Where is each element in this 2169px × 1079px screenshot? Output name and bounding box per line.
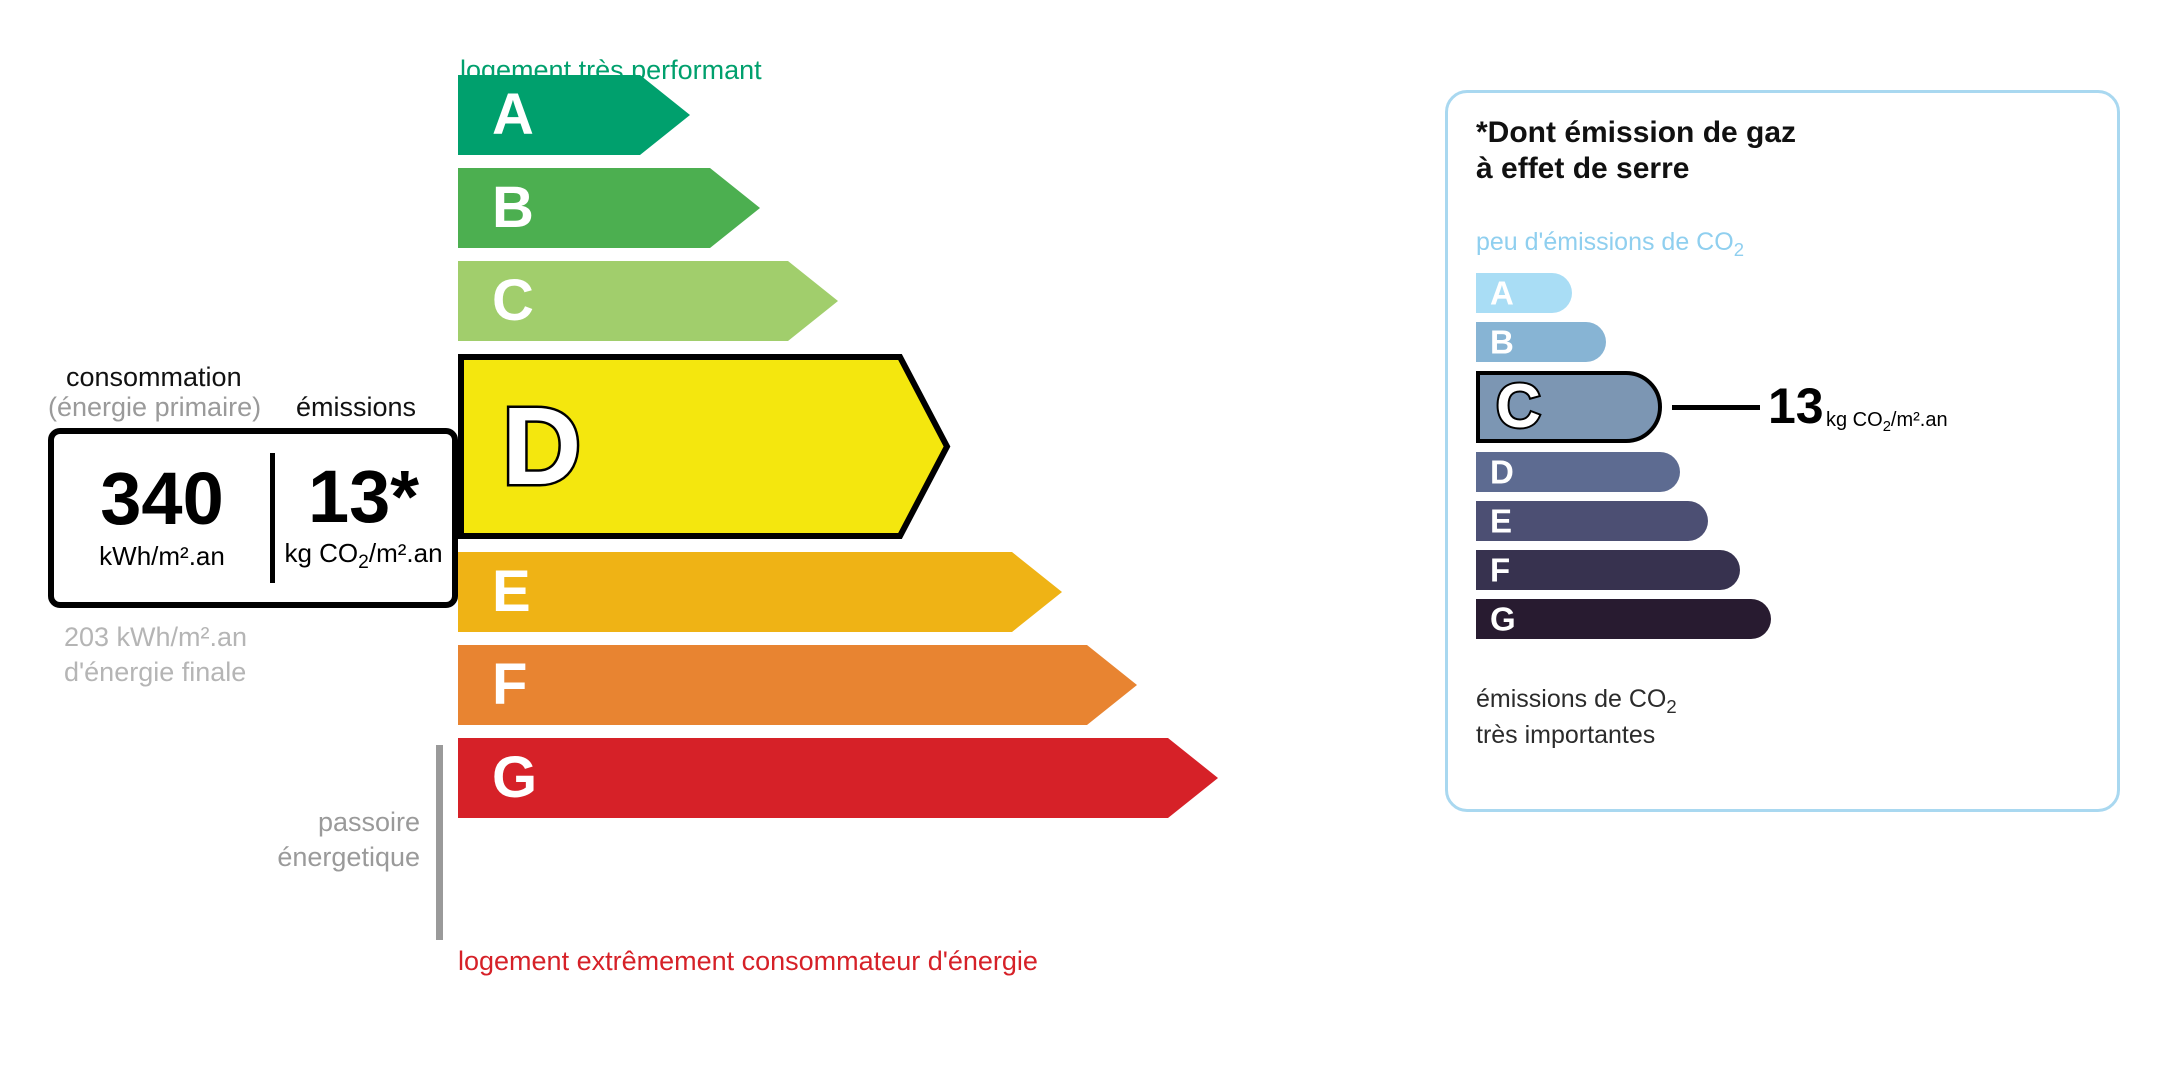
ladder-bar-letter-g: G xyxy=(492,749,537,807)
ges-bar-a[interactable]: A xyxy=(1476,273,1572,313)
ladder-bar-letter-d: D xyxy=(502,392,581,502)
dpe-diagram: logement très performant ABCDEFG consomm… xyxy=(0,0,2169,1079)
ladder-bar-g[interactable]: G xyxy=(458,738,1218,818)
consumption-value-cell: 340 kWh/m².an xyxy=(54,464,270,571)
ges-bar-e[interactable]: E xyxy=(1476,501,1708,541)
ges-bar-f[interactable]: F xyxy=(1476,550,1740,590)
ges-bottom-line2: très importantes xyxy=(1476,719,1677,751)
ladder-bar-letter-f: F xyxy=(492,656,527,714)
ges-callout-line xyxy=(1672,405,1760,410)
ges-bar-d[interactable]: D xyxy=(1476,452,1680,492)
ges-title-line1: *Dont émission de gaz xyxy=(1476,115,1796,151)
consumption-value: 340 xyxy=(100,464,223,534)
ges-bar-shape-f: F xyxy=(1476,550,1740,590)
value-box: 340 kWh/m².an 13* kg CO2/m².an xyxy=(48,428,458,608)
final-energy-line1: 203 kWh/m².an xyxy=(64,620,247,655)
ladder-bar-f[interactable]: F xyxy=(458,645,1137,725)
ladder-bar-letter-e: E xyxy=(492,563,531,621)
energy-ladder: logement très performant ABCDEFG consomm… xyxy=(0,0,1400,1079)
ges-bar-letter-d: D xyxy=(1490,456,1514,489)
ges-bar-letter-b: B xyxy=(1490,326,1514,359)
passoire-line2: énergetique xyxy=(270,840,420,875)
ges-bar-g[interactable]: G xyxy=(1476,599,1771,639)
ges-bar-shape-a: A xyxy=(1476,273,1572,313)
ges-title-line2: à effet de serre xyxy=(1476,151,1796,187)
ges-bar-shape-d: D xyxy=(1476,452,1680,492)
ges-bar-b[interactable]: B xyxy=(1476,322,1606,362)
ladder-bar-letter-c: C xyxy=(492,272,534,330)
consumption-unit: kWh/m².an xyxy=(99,541,225,572)
ladder-bar-shape-e xyxy=(458,552,1062,632)
ladder-bar-c[interactable]: C xyxy=(458,261,838,341)
ges-bar-letter-a: A xyxy=(1490,277,1514,310)
ladder-bar-letter-a: A xyxy=(492,86,534,144)
emission-unit: kg CO2/m².an xyxy=(284,538,442,574)
final-energy-note: 203 kWh/m².an d'énergie finale xyxy=(64,620,247,689)
ladder-bar-letter-b: B xyxy=(492,179,534,237)
ges-title: *Dont émission de gaz à effet de serre xyxy=(1476,115,1796,187)
emission-value: 13* xyxy=(308,462,419,532)
ges-callout-value: 13 xyxy=(1768,381,1824,431)
ladder-bottom-note: logement extrêmement consommateur d'éner… xyxy=(458,946,1038,977)
consumption-sublabel: (énergie primaire) xyxy=(48,392,261,423)
ladder-bar-b[interactable]: B xyxy=(458,168,760,248)
ges-bar-c[interactable]: C xyxy=(1476,371,1662,443)
ges-bottom-note: émissions de CO2 très importantes xyxy=(1476,683,1677,751)
ladder-bar-e[interactable]: E xyxy=(458,552,1062,632)
passoire-label: passoire énergetique xyxy=(270,805,420,874)
ges-bar-letter-c: C xyxy=(1496,376,1541,438)
final-energy-line2: d'énergie finale xyxy=(64,655,247,690)
ges-bottom-line1: émissions de CO2 xyxy=(1476,683,1677,719)
consumption-label: consommation xyxy=(66,362,242,393)
ladder-bar-a[interactable]: A xyxy=(458,75,690,155)
ges-bar-letter-f: F xyxy=(1490,554,1510,587)
ladder-bar-shape-f xyxy=(458,645,1137,725)
ges-bar-shape-b: B xyxy=(1476,322,1606,362)
ges-bar-letter-e: E xyxy=(1490,505,1512,538)
ges-bar-shape-g: G xyxy=(1476,599,1771,639)
ladder-bar-shape-g xyxy=(458,738,1218,818)
ges-callout-unit: kg CO2/m².an xyxy=(1826,409,1948,435)
emissions-label: émissions xyxy=(296,392,416,423)
ges-top-note: peu d'émissions de CO2 xyxy=(1476,228,1744,261)
ges-bar-shape-c: C xyxy=(1476,371,1662,443)
emission-value-cell: 13* kg CO2/m².an xyxy=(275,462,452,574)
ges-bar-shape-e: E xyxy=(1476,501,1708,541)
ges-panel: *Dont émission de gaz à effet de serre p… xyxy=(1445,90,2120,812)
passoire-line1: passoire xyxy=(270,805,420,840)
ges-bar-letter-g: G xyxy=(1490,603,1516,636)
ladder-bar-d[interactable]: D xyxy=(458,354,950,539)
passoire-rule xyxy=(436,745,443,940)
